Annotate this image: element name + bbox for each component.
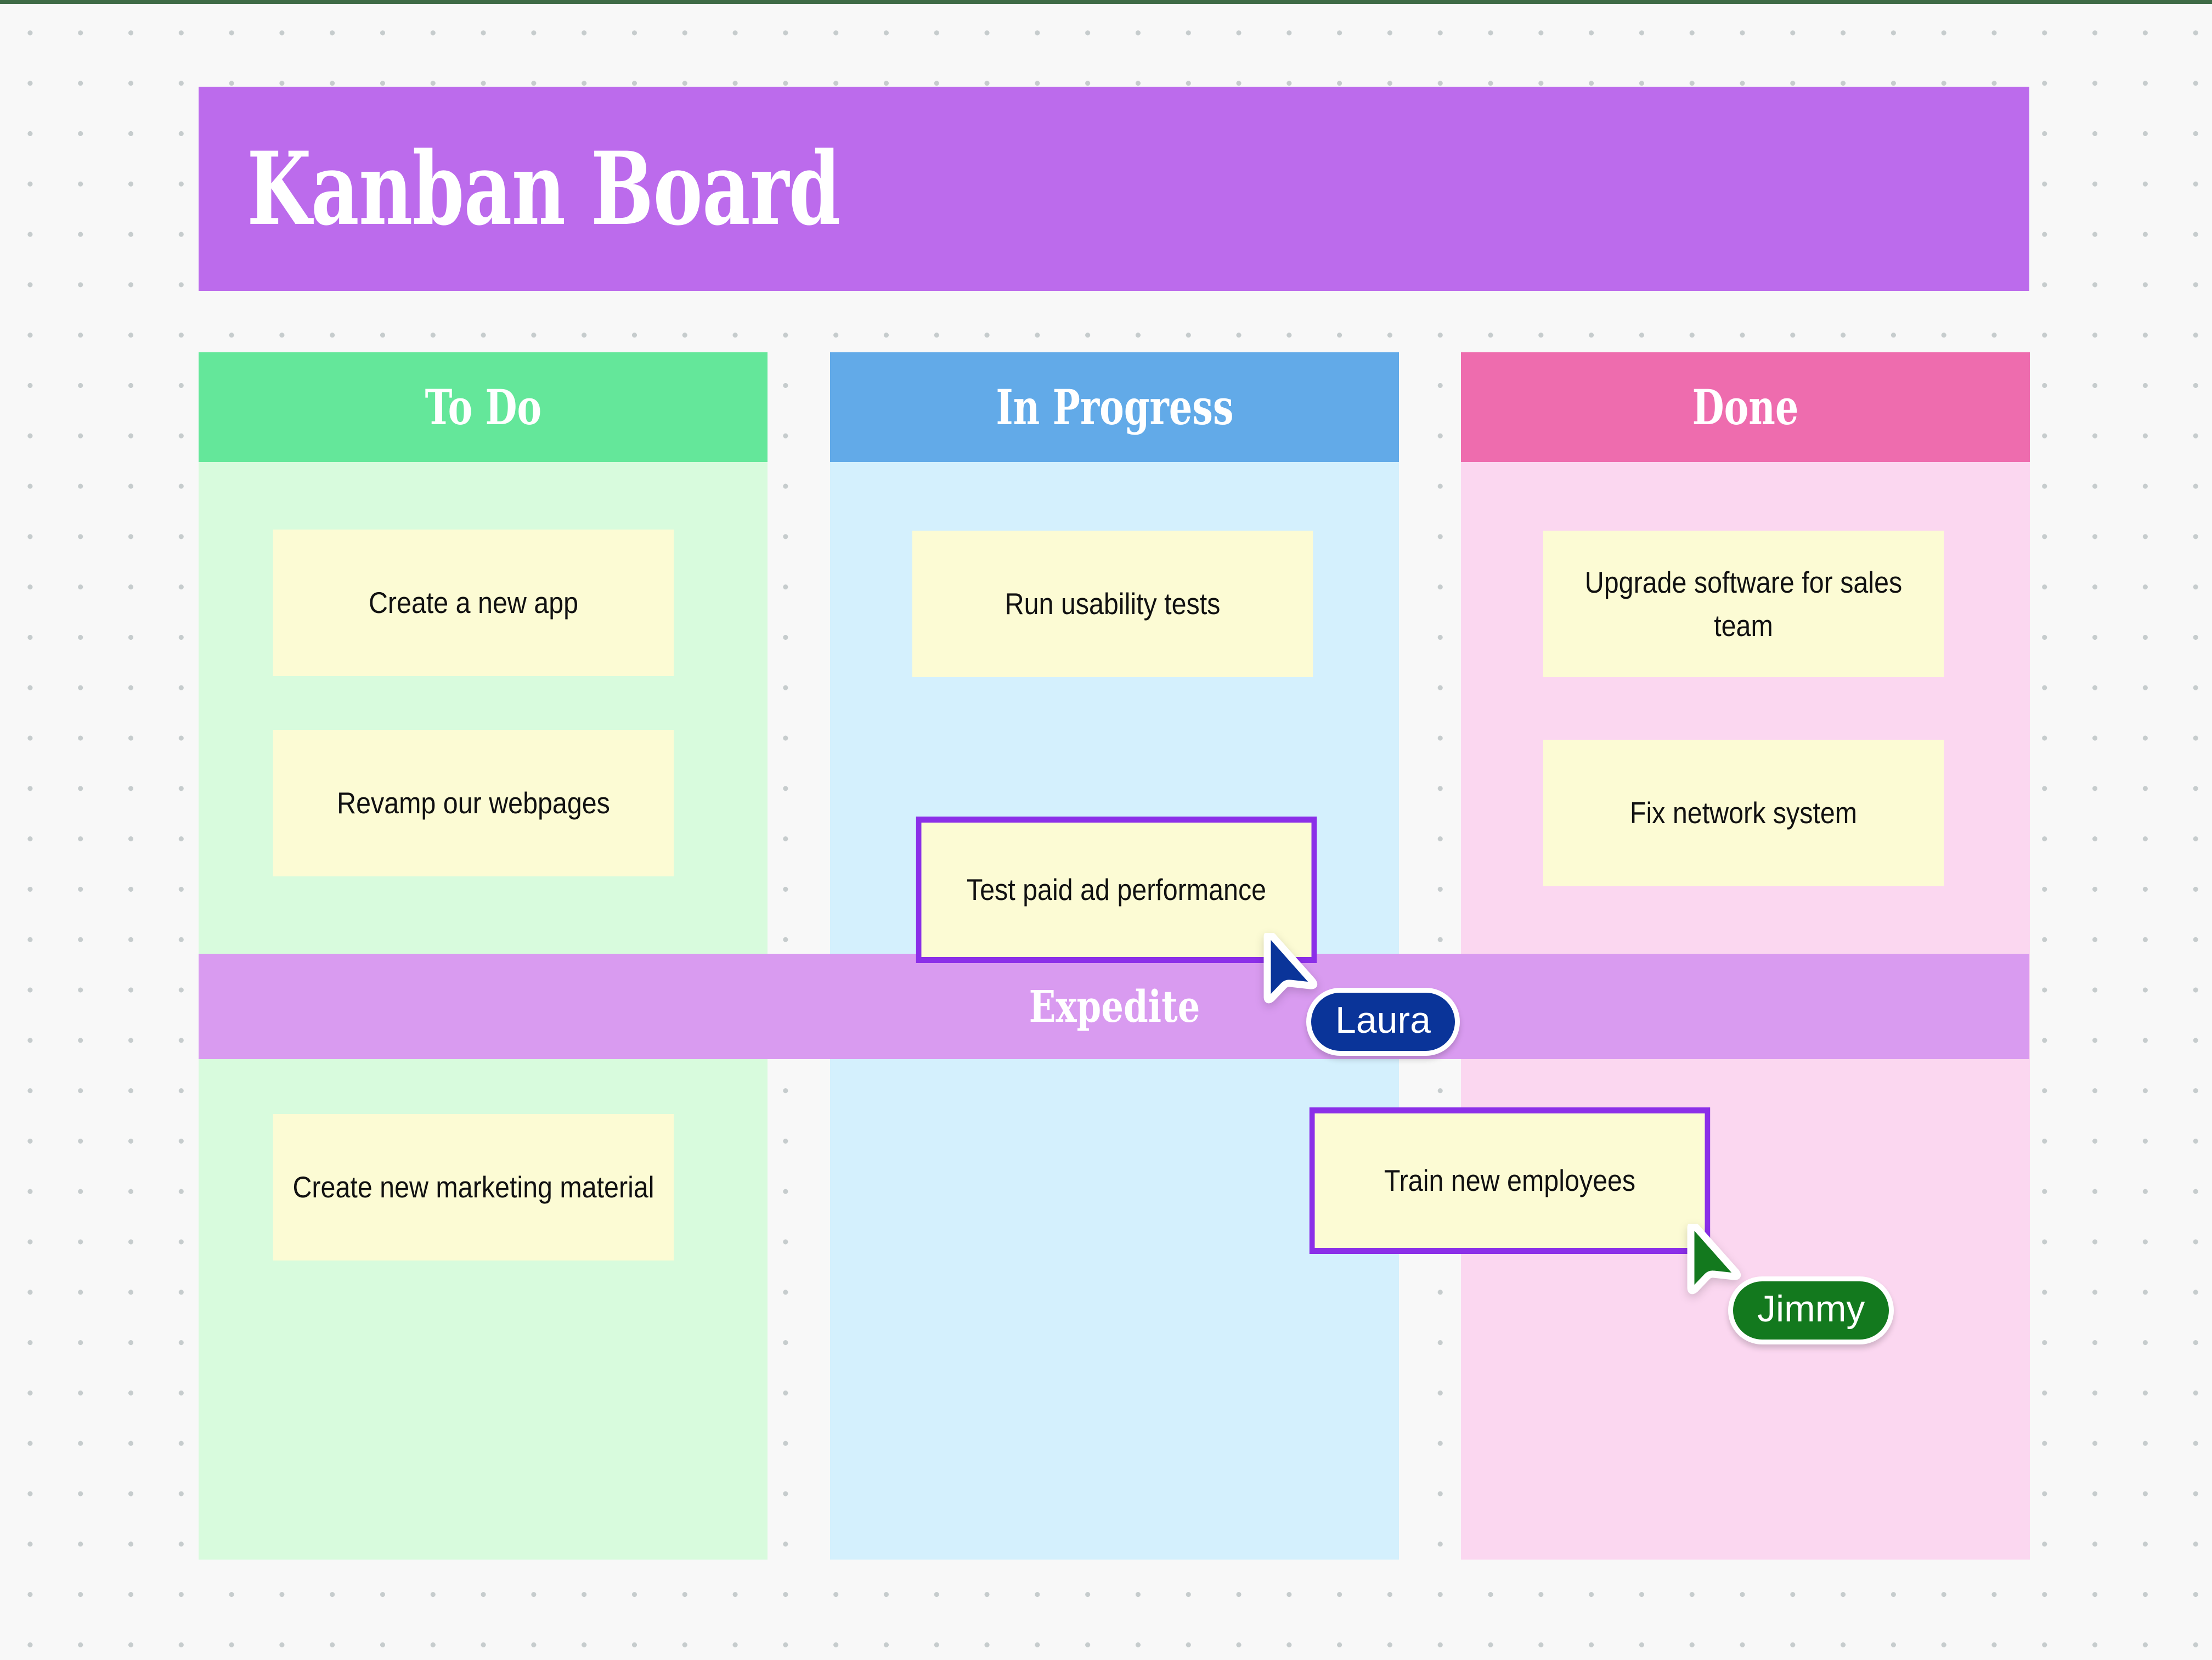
- task-card-text: Create a new app: [351, 581, 597, 624]
- board-title-banner: Kanban Board: [199, 87, 2029, 291]
- column-header-inprogress: In Progress: [830, 352, 1399, 462]
- column-title-todo: To Do: [425, 383, 541, 431]
- task-card[interactable]: Fix network system: [1543, 740, 1944, 886]
- task-card-text: Train new employees: [1365, 1159, 1654, 1202]
- top-edge-rule: [0, 0, 2212, 4]
- task-card-text: Revamp our webpages: [319, 781, 629, 824]
- column-header-done: Done: [1461, 352, 2030, 462]
- task-card[interactable]: Create new marketing material: [273, 1114, 674, 1261]
- task-card-text: Test paid ad performance: [948, 868, 1284, 911]
- task-card-text: Run usability tests: [986, 582, 1239, 625]
- task-card[interactable]: Run usability tests: [912, 531, 1313, 677]
- task-card-selected[interactable]: Test paid ad performance: [916, 817, 1317, 963]
- column-header-todo: To Do: [199, 352, 768, 462]
- collaborator-name-badge: Jimmy: [1728, 1276, 1894, 1344]
- column-title-done: Done: [1692, 383, 1799, 431]
- board-canvas: Kanban Board To Do In Progress Done Expe…: [0, 0, 2212, 1660]
- task-card-text: Create new marketing material: [274, 1166, 673, 1208]
- page-title: Kanban Board: [247, 139, 840, 239]
- task-card-text: Fix network system: [1611, 791, 1875, 834]
- task-card[interactable]: Revamp our webpages: [273, 730, 674, 876]
- column-title-inprogress: In Progress: [996, 383, 1233, 431]
- swimlane-expedite[interactable]: Expedite: [199, 954, 2029, 1059]
- task-card[interactable]: Create a new app: [273, 530, 674, 676]
- task-card-selected[interactable]: Train new employees: [1310, 1107, 1710, 1254]
- collaborator-name-badge: Laura: [1306, 988, 1460, 1056]
- task-card-text: Upgrade software for sales team: [1543, 561, 1944, 646]
- task-card[interactable]: Upgrade software for sales team: [1543, 531, 1944, 677]
